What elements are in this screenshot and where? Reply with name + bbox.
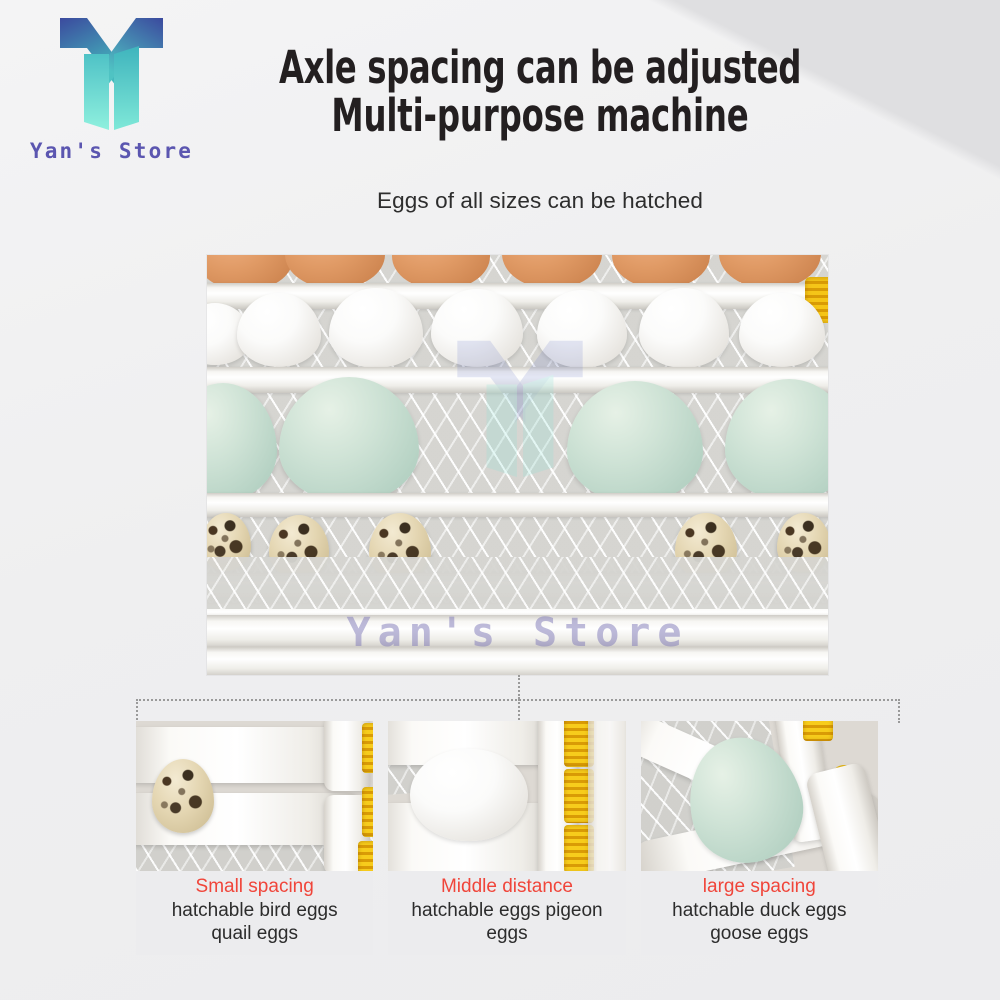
connector-drop-left: [136, 699, 138, 723]
tray-diamond-strip: [207, 557, 828, 609]
spacing-desc-large-1: hatchable duck eggs: [643, 899, 876, 922]
y-mark-logo-icon: [54, 12, 169, 137]
headline-line-2: Multi-purpose machine: [260, 92, 820, 140]
spacing-desc-middle-2: eggs: [390, 922, 623, 945]
page-headline: Axle spacing can be adjusted Multi-purpo…: [260, 44, 820, 139]
hero-watermark-text: Yan's Store: [207, 610, 828, 656]
spacing-caption-large: large spacing hatchable duck eggs goose …: [641, 871, 878, 955]
y-mark-watermark-icon: [450, 327, 590, 492]
connector-drop-right: [898, 699, 900, 723]
spacing-desc-large-2: goose eggs: [643, 922, 876, 945]
spacing-photo-large: [641, 721, 878, 871]
spacing-title-small: Small spacing: [138, 875, 371, 899]
gear-icon: [362, 723, 373, 773]
spacing-title-large: large spacing: [643, 875, 876, 899]
connector-lines: [130, 675, 890, 725]
spacing-photo-small: [136, 721, 373, 871]
spacing-photo-middle: [388, 721, 625, 871]
spacing-desc-small-1: hatchable bird eggs: [138, 899, 371, 922]
headline-line-1: Axle spacing can be adjusted: [260, 44, 820, 92]
brand-block: Yan's Store: [24, 8, 199, 173]
egg-white: [410, 749, 528, 841]
spacing-panel-large[interactable]: large spacing hatchable duck eggs goose …: [641, 721, 878, 955]
spacing-panel-middle[interactable]: Middle distance hatchable eggs pigeon eg…: [388, 721, 625, 955]
connector-stem: [518, 675, 520, 699]
gear-icon: [358, 841, 373, 871]
spacing-panel-small[interactable]: Small spacing hatchable bird eggs quail …: [136, 721, 373, 955]
gear-icon: [803, 721, 833, 741]
page-subtitle: Eggs of all sizes can be hatched: [190, 188, 890, 214]
hero-product-photo: Yan's Store: [207, 255, 828, 675]
spacing-caption-middle: Middle distance hatchable eggs pigeon eg…: [388, 871, 625, 955]
roller-bar: [207, 493, 828, 517]
spacing-caption-small: Small spacing hatchable bird eggs quail …: [136, 871, 373, 955]
spacing-desc-middle-1: hatchable eggs pigeon: [390, 899, 623, 922]
spacing-desc-small-2: quail eggs: [138, 922, 371, 945]
connector-drop-center: [518, 699, 520, 723]
gear-icon: [362, 787, 373, 837]
spacing-title-middle: Middle distance: [390, 875, 623, 899]
brand-name: Yan's Store: [24, 139, 199, 163]
spacing-options-row: Small spacing hatchable bird eggs quail …: [136, 721, 878, 955]
